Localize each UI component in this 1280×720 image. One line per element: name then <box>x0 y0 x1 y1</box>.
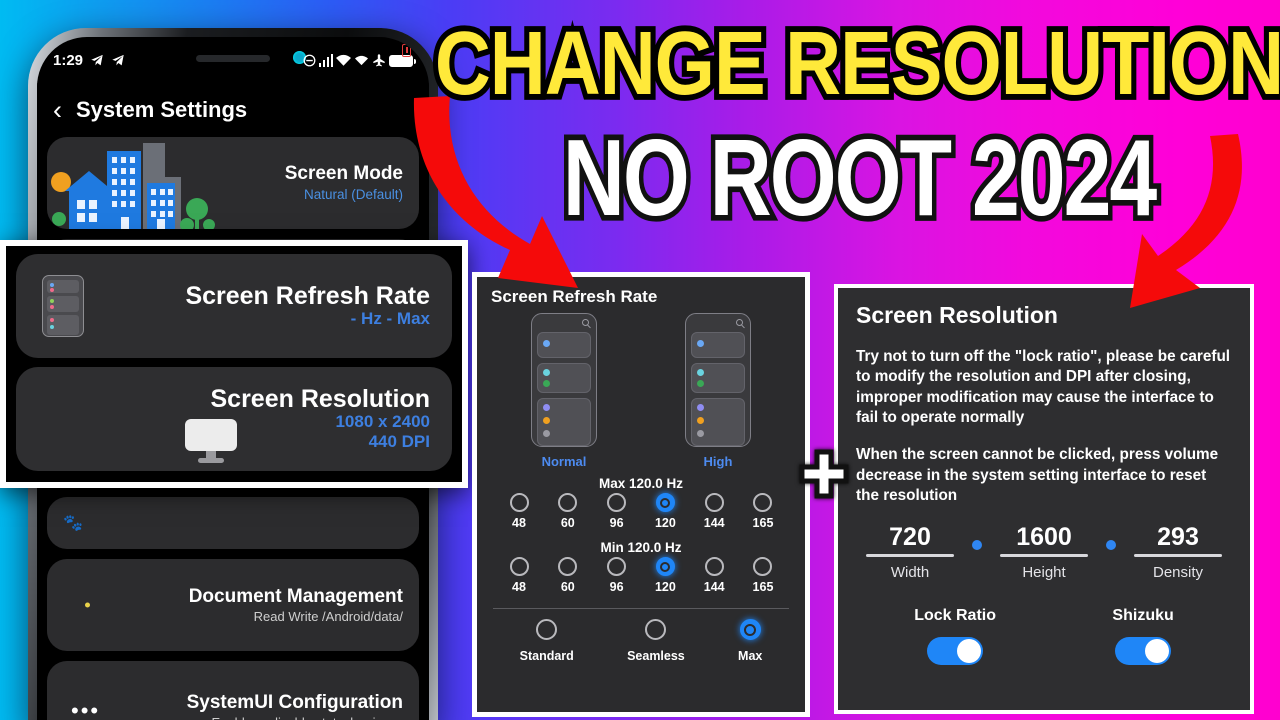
switch-knob <box>1145 639 1169 663</box>
inset-card-screen-resolution[interactable]: Screen Resolution 1080 x 2400 440 DPI <box>16 367 452 471</box>
radio-label: 60 <box>548 516 588 530</box>
battery-alert-icon <box>402 44 411 57</box>
min-hz-option-120[interactable]: 120 <box>645 557 685 594</box>
status-bar-time: 1:29 <box>53 52 83 69</box>
radio-label: 120 <box>645 580 685 594</box>
max-hz-radio-group: 48 60 96 120 144 165 <box>487 493 795 530</box>
refresh-mode-max[interactable]: Max <box>738 619 762 663</box>
city-illustration-icon <box>47 137 255 229</box>
refresh-preview-normal[interactable]: Normal <box>531 313 597 469</box>
field-label: Density <box>1128 564 1228 581</box>
inset-card-title: Screen Resolution <box>211 386 431 413</box>
link-dot-icon <box>972 540 982 550</box>
resolution-fields-row: 720 Width 1600 Height 293 Density <box>856 523 1232 581</box>
preview-label: High <box>685 454 751 469</box>
resolution-warning-paragraph-2: When the screen cannot be clicked, press… <box>856 445 1232 506</box>
headline-line-1: CHANGE RESOLUTION <box>430 22 1280 107</box>
inset-card-value: - Hz - Max <box>185 309 430 329</box>
card-value: Read Write /Android/data/ <box>189 609 403 625</box>
switch-knob <box>957 639 981 663</box>
card-value: Natural (Default) <box>285 187 403 203</box>
inset-card-dpi: 440 DPI <box>211 432 431 452</box>
radio-label: Standard <box>520 649 574 663</box>
signal-icon <box>319 54 334 67</box>
max-hz-option-60[interactable]: 60 <box>548 493 588 530</box>
field-value: 720 <box>860 523 960 554</box>
radio-label: 144 <box>694 580 734 594</box>
settings-card-document-management[interactable]: Document Management Read Write /Android/… <box>47 559 419 651</box>
refresh-mode-radio-group: Standard Seamless Max <box>487 619 795 663</box>
headline: CHANGE RESOLUTION NO ROOT 2024 <box>438 22 1280 210</box>
max-hz-option-165[interactable]: 165 <box>743 493 783 530</box>
toggle-label: Shizuku <box>1112 607 1173 625</box>
card-title: Screen Mode <box>285 163 403 184</box>
screen-resolution-panel: Screen Resolution Try not to turn off th… <box>834 284 1254 714</box>
back-icon[interactable]: ‹ <box>53 97 62 124</box>
shizuku-toggle-cell: Shizuku <box>1112 607 1173 665</box>
search-icon <box>736 319 743 326</box>
radio-label: 165 <box>743 580 783 594</box>
inset-card-screen-refresh-rate[interactable]: Screen Refresh Rate - Hz - Max <box>16 254 452 358</box>
width-field[interactable]: 720 Width <box>860 523 960 581</box>
status-bar: 1:29 <box>37 37 429 83</box>
radio-label: 144 <box>694 516 734 530</box>
resolution-warning-paragraph-1: Try not to turn off the "lock ratio", pl… <box>856 347 1232 428</box>
app-bar: ‹ System Settings <box>47 83 419 137</box>
refresh-preview-high[interactable]: High <box>685 313 751 469</box>
lock-ratio-switch[interactable] <box>927 637 983 665</box>
max-hz-option-48[interactable]: 48 <box>499 493 539 530</box>
radio-label: 48 <box>499 516 539 530</box>
preview-label: Normal <box>531 454 597 469</box>
max-hz-option-96[interactable]: 96 <box>597 493 637 530</box>
page-title: System Settings <box>76 97 247 123</box>
radio-label: 96 <box>597 516 637 530</box>
refresh-mode-seamless[interactable]: Seamless <box>627 619 685 663</box>
search-icon <box>582 319 589 326</box>
divider <box>493 608 789 609</box>
card-title: SystemUI Configuration <box>187 692 403 713</box>
refresh-tiles-icon <box>42 275 84 337</box>
min-hz-option-165[interactable]: 165 <box>743 557 783 594</box>
min-hz-option-96[interactable]: 96 <box>597 557 637 594</box>
folder-dot-icon <box>85 603 90 608</box>
max-hz-option-144[interactable]: 144 <box>694 493 734 530</box>
radio-label: Seamless <box>627 649 685 663</box>
dnd-icon <box>303 54 316 67</box>
link-dot-icon <box>1106 540 1116 550</box>
wifi-icon <box>336 54 351 67</box>
inset-card-resolution: 1080 x 2400 <box>211 412 431 432</box>
min-hz-option-60[interactable]: 60 <box>548 557 588 594</box>
telegram-icon <box>111 54 125 67</box>
phone-preview-icon <box>531 313 597 447</box>
field-value: 293 <box>1128 523 1228 554</box>
radio-label: 165 <box>743 516 783 530</box>
radio-label: Max <box>738 649 762 663</box>
lock-ratio-toggle-cell: Lock Ratio <box>914 607 996 665</box>
radio-label: 48 <box>499 580 539 594</box>
headline-line-2: NO ROOT 2024 <box>438 128 1280 231</box>
min-hz-label: Min 120.0 Hz <box>487 540 795 555</box>
density-field[interactable]: 293 Density <box>1128 523 1228 581</box>
wifi-icon <box>354 54 369 67</box>
toggle-label: Lock Ratio <box>914 607 996 625</box>
card-title: Document Management <box>189 586 403 607</box>
shizuku-switch[interactable] <box>1115 637 1171 665</box>
min-hz-option-144[interactable]: 144 <box>694 557 734 594</box>
min-hz-radio-group: 48 60 96 120 144 165 <box>487 557 795 594</box>
field-value: 1600 <box>994 523 1094 554</box>
min-hz-option-48[interactable]: 48 <box>499 557 539 594</box>
monitor-icon <box>185 419 237 463</box>
radio-label: 60 <box>548 580 588 594</box>
toggles-row: Lock Ratio Shizuku <box>856 607 1232 665</box>
refresh-mode-standard[interactable]: Standard <box>520 619 574 663</box>
field-underline <box>1134 554 1222 557</box>
telegram-icon <box>90 54 104 67</box>
refresh-preview-row: Normal High <box>487 313 795 469</box>
max-hz-option-120[interactable]: 120 <box>645 493 685 530</box>
airplane-icon <box>372 54 386 67</box>
white-plus-badge-icon <box>798 448 850 500</box>
radio-label: 120 <box>645 516 685 530</box>
phone-preview-icon <box>685 313 751 447</box>
screen-refresh-rate-panel: Screen Refresh Rate Normal High Max 120.… <box>472 272 810 717</box>
paw-icon: 🐾 <box>63 513 83 533</box>
max-hz-label: Max 120.0 Hz <box>487 476 795 491</box>
card-value: Enable or disable statusbar icons <box>187 715 403 720</box>
field-label: Height <box>994 564 1094 581</box>
settings-card-systemui-configuration[interactable]: ••• SystemUI Configuration Enable or dis… <box>47 661 419 720</box>
field-label: Width <box>860 564 960 581</box>
radio-label: 96 <box>597 580 637 594</box>
settings-card-partial[interactable]: 🐾 <box>47 497 419 549</box>
settings-card-screen-mode[interactable]: Screen Mode Natural (Default) <box>47 137 419 229</box>
field-underline <box>1000 554 1088 557</box>
field-underline <box>866 554 954 557</box>
height-field[interactable]: 1600 Height <box>994 523 1094 581</box>
